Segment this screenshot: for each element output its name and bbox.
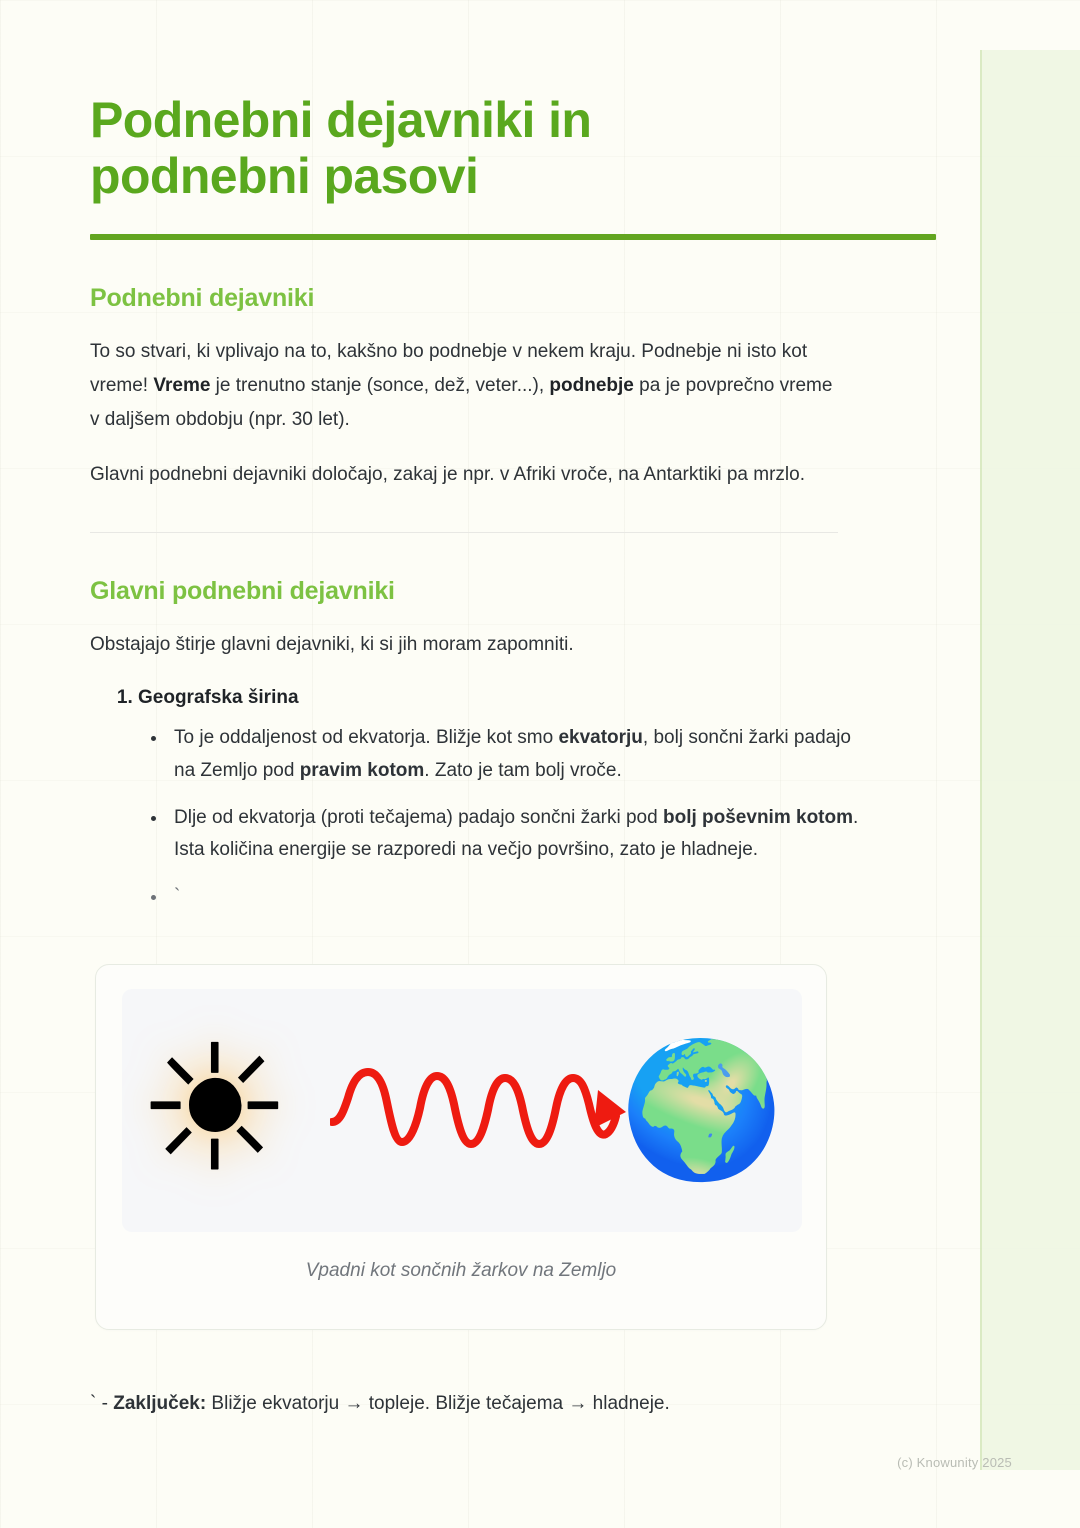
paragraph-definition: To so stvari, ki vplivajo na to, kakšno …: [90, 335, 838, 436]
text-run: To je oddaljenost od ekvatorja. Bližje k…: [174, 727, 558, 748]
bullet-item: Dlje od ekvatorja (proti tečajema) padaj…: [168, 802, 868, 867]
bold-bolj-posevnim-kotom: bolj poševnim kotom: [663, 807, 853, 828]
sub-bullet-list: To je oddaljenost od ekvatorja. Bližje k…: [138, 722, 850, 913]
document-content: Podnebni dejavniki in podnebni pasovi Po…: [90, 92, 850, 1420]
bullet-item-empty: `: [168, 881, 868, 914]
figure-card: ☀ 🌍 Vpadni kot sončnih žarkov na Zemljo: [95, 964, 827, 1330]
bullet-item: To je oddaljenost od ekvatorja. Bližje k…: [168, 722, 868, 787]
page-title: Podnebni dejavniki in podnebni pasovi: [90, 92, 730, 204]
paragraph-intro-four-factors: Obstajajo štirje glavni dejavniki, ki si…: [90, 628, 838, 662]
section-heading-podnebni-dejavniki: Podnebni dejavniki: [90, 284, 850, 313]
list-item-label: Geografska širina: [138, 687, 299, 708]
sun-ray-arrow-icon: [330, 1050, 630, 1170]
section-divider: [90, 532, 838, 533]
text-run: Bližje ekvatorju → topleje. Bližje tečaj…: [206, 1393, 670, 1414]
copyright-watermark: (c) Knowunity 2025: [897, 1455, 1012, 1470]
bold-vreme: Vreme: [153, 375, 210, 396]
title-underline-rule: [90, 234, 936, 240]
paragraph-examples: Glavni podnebni dejavniki določajo, zaka…: [90, 458, 838, 492]
bold-ekvatorju: ekvatorju: [558, 727, 642, 748]
text-run: Dlje od ekvatorja (proti tečajema) padaj…: [174, 807, 663, 828]
figure-image-area: ☀ 🌍: [122, 989, 802, 1232]
text-run: ` -: [90, 1393, 113, 1414]
earth-globe-icon: 🌍: [620, 1044, 784, 1176]
figure-caption: Vpadni kot sončnih žarkov na Zemljo: [122, 1260, 800, 1282]
document-page: Podnebni dejavniki in podnebni pasovi Po…: [0, 0, 1080, 1528]
sun-icon: ☀: [136, 1023, 293, 1198]
section-heading-glavni-podnebni-dejavniki: Glavni podnebni dejavniki: [90, 577, 850, 606]
bold-pravim-kotom: pravim kotom: [300, 760, 425, 781]
bold-zakljucek: Zaključek:: [113, 1393, 206, 1414]
main-factors-list: Geografska širina To je oddaljenost od e…: [90, 682, 850, 914]
bold-podnebje: podnebje: [549, 375, 633, 396]
text-run: je trenutno stanje (sonce, dež, veter...…: [210, 375, 549, 396]
list-item-geografska-sirina: Geografska širina To je oddaljenost od e…: [138, 682, 850, 914]
text-run: . Zato je tam bolj vroče.: [424, 760, 621, 781]
conclusion-line: ` - Zaključek: Bližje ekvatorju → toplej…: [90, 1388, 890, 1420]
